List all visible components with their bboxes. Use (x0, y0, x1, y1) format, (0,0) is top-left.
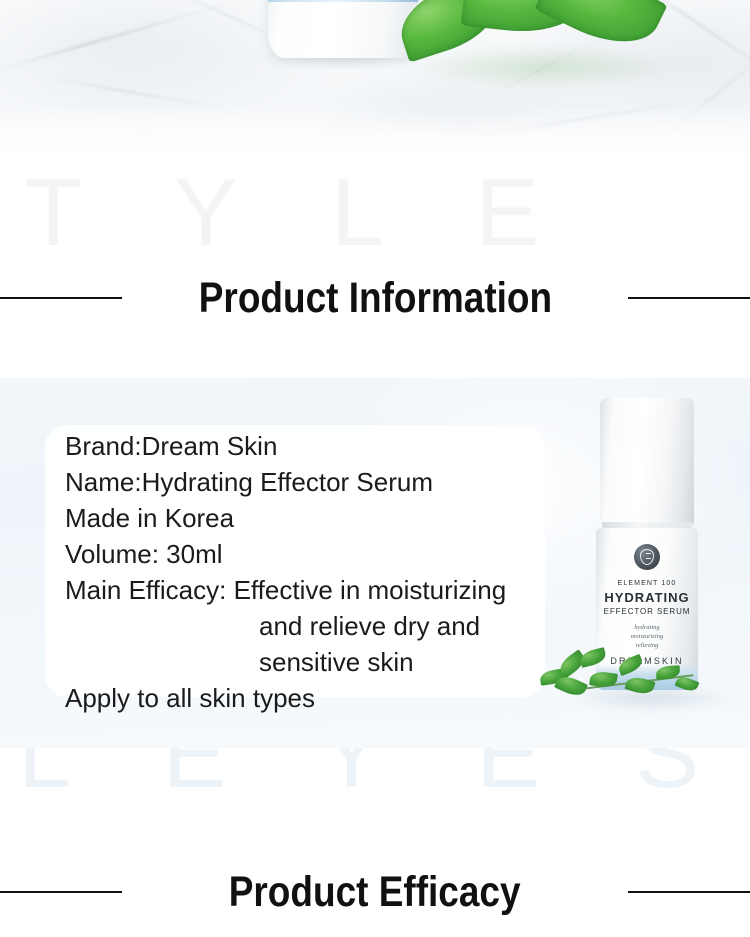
product-information-heading-band: Product Information (0, 258, 750, 338)
spec-volume: Volume: 30ml (65, 536, 605, 572)
page-title-product-information: Product Information (198, 277, 551, 320)
divider-line-left (0, 891, 122, 893)
marble-vein (0, 0, 235, 75)
sprig-leaf (579, 647, 608, 668)
sprig-leaf (675, 674, 700, 693)
divider-line-right (628, 891, 750, 893)
bottle-cap (600, 398, 694, 526)
bottle-label-subtitle: EFFECTOR SERUM (596, 607, 698, 616)
droplet-shape (640, 549, 654, 565)
bottle-label-element: ELEMENT 100 (596, 580, 698, 587)
spec-name: Name:Hydrating Effector Serum (65, 464, 605, 500)
divider-line-left (0, 297, 122, 299)
leaf-sprig (540, 648, 720, 718)
hero-product-photo (0, 0, 750, 158)
mint-leaves (392, 0, 692, 70)
spec-efficacy-line-2: and relieve dry and (65, 608, 605, 644)
droplet-logo-icon (634, 544, 660, 570)
page-title-product-efficacy: Product Efficacy (229, 871, 521, 914)
bottle-label-title: HYDRATING (596, 590, 698, 605)
sprig-leaf (624, 674, 655, 696)
mint-leaf (534, 0, 667, 61)
sprig-leaf (616, 654, 644, 676)
spec-efficacy-line-1: Main Efficacy: Effective in moisturizing (65, 572, 605, 608)
bottle-label-benefits: hydrating moisturizing relieving (596, 623, 698, 650)
spec-apply: Apply to all skin types (65, 680, 605, 716)
spec-origin: Made in Korea (65, 500, 605, 536)
spec-brand: Brand:Dream Skin (65, 428, 605, 464)
watermark-top: T Y L E (24, 158, 573, 268)
product-spec-list: Brand:Dream Skin Name:Hydrating Effector… (65, 428, 605, 716)
spec-efficacy-line-3: sensitive skin (65, 644, 605, 680)
product-efficacy-heading-band: Product Efficacy (0, 852, 750, 932)
hero-fade-overlay (0, 104, 750, 158)
divider-line-right (628, 297, 750, 299)
